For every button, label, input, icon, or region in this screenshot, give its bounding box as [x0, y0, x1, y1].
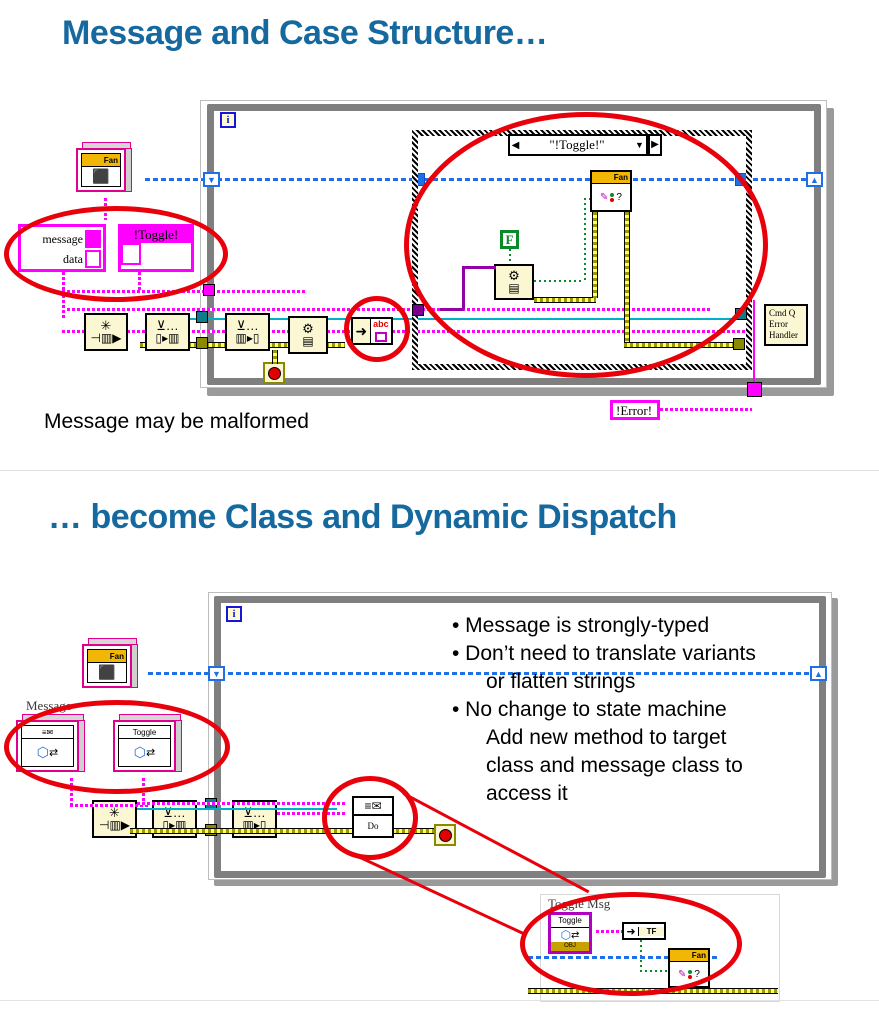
string-constant-toggle[interactable]: !Toggle! — [118, 224, 194, 272]
wire-yellow-stop[interactable] — [272, 350, 278, 364]
envelope-icon-message: ≡✉ — [22, 726, 73, 739]
bullet-3b: Add new method to target — [452, 724, 756, 752]
cube-icon-bottom: ⬛ — [88, 663, 126, 682]
divider-2 — [0, 1000, 879, 1001]
cluster-field-1[interactable] — [85, 230, 101, 248]
wire-yellow-bottom-1[interactable] — [130, 828, 360, 834]
do-method-label: Do — [354, 816, 392, 836]
divider-1 — [0, 470, 879, 471]
toggle-object-constant[interactable]: Toggle ⬡⇄ OBJ — [548, 912, 592, 954]
cube-arrows-icon-inset: ⬡⇄ — [551, 928, 589, 942]
shift-register-left-bottom[interactable]: ▼ — [208, 666, 225, 681]
wire-pink-inset[interactable] — [596, 930, 622, 933]
wire-purple-left[interactable] — [462, 266, 465, 310]
gear-sub-icon: ▤ — [508, 282, 519, 294]
wire-pink-fan-down-top[interactable] — [104, 198, 107, 220]
variant-square-icon — [371, 331, 391, 343]
tunnel-pink-top[interactable] — [203, 284, 215, 296]
fan-write-vi-inset[interactable]: Fan ✎ ? — [668, 948, 710, 988]
arrow-right-icon-inset: ➜ — [624, 925, 638, 938]
wire-pink-bus-bottom-3[interactable] — [277, 812, 347, 815]
do-method-vi[interactable]: ≡✉ Do — [352, 796, 394, 838]
bullet-2b: or flatten strings — [452, 668, 756, 696]
shift-register-left-top[interactable]: ▼ — [203, 172, 220, 187]
wire-yellow-case-d[interactable] — [624, 212, 630, 344]
toggle-msg-label: Toggle Msg — [548, 896, 610, 912]
variant-glyph-bottom: ▤ — [302, 335, 313, 347]
caption-malformed: Message may be malformed — [44, 410, 309, 434]
toggle-obj-label: Toggle — [551, 915, 589, 928]
fan-write-body-top: ✎ ? — [592, 184, 630, 210]
page-title-bottom: … become Class and Dynamic Dispatch — [48, 498, 677, 537]
stop-button-top[interactable] — [263, 362, 285, 384]
message-class-constant[interactable]: ≡✉ ⬡⇄ — [16, 714, 92, 778]
wire-pink-error[interactable] — [660, 408, 752, 411]
shift-register-right-top[interactable]: ▲ — [806, 172, 823, 187]
stop-button-bottom[interactable] — [434, 824, 456, 846]
toggle-label: Toggle — [119, 726, 170, 739]
obtain-queue-glyph-bottom-b: ⊣▥▶ — [99, 819, 130, 831]
cluster-field-2[interactable] — [85, 250, 101, 268]
fan-icon-header-top: Fan — [82, 154, 120, 167]
iteration-terminal-bottom[interactable]: i — [226, 606, 242, 622]
bullet-3d: access it — [452, 780, 756, 808]
enqueue-glyph-bottom: ▯▸▥ — [156, 332, 180, 344]
tunnel-olive-top[interactable] — [196, 337, 208, 349]
tunnel-teal-case[interactable] — [735, 308, 747, 320]
obj-badge: OBJ — [551, 942, 589, 951]
tunnel-magenta-error[interactable] — [747, 382, 762, 397]
tunnel-olive-case[interactable] — [733, 338, 745, 350]
page-title-top: Message and Case Structure… — [62, 14, 547, 53]
tunnel-purple-case[interactable] — [412, 304, 424, 316]
fan-inset-body: ✎ ? — [670, 962, 708, 986]
boolean-false-constant[interactable]: F — [500, 230, 519, 249]
wire-yellow-inset[interactable] — [528, 988, 778, 994]
wire-pink-left-drop[interactable] — [62, 290, 65, 318]
wire-purple-out[interactable] — [440, 308, 464, 311]
abc-label: abc — [371, 319, 391, 331]
wire-pink-string-down[interactable] — [138, 272, 141, 290]
string-constant-toggle-value: !Toggle! — [121, 227, 191, 243]
bullet-1: • Message is strongly-typed — [452, 612, 756, 640]
cube-arrows-icon-message: ⬡⇄ — [22, 739, 73, 766]
tunnel-teal-top[interactable] — [196, 311, 208, 323]
envelope-icon-do: ≡✉ — [354, 798, 392, 816]
fan-inset-header: Fan — [670, 950, 708, 962]
case-selector-value: "!Toggle!" — [521, 137, 633, 153]
flatten-to-string-vi[interactable]: ⚙ ▤ — [494, 264, 534, 300]
obtain-queue-vi-top[interactable]: ✳ ⊣▥▶ — [84, 313, 128, 351]
cmd-q-error-handler[interactable]: Cmd Q Error Handler — [764, 304, 808, 346]
cluster-label-message: message — [42, 232, 83, 247]
error-string-constant[interactable]: !Error! — [610, 400, 660, 420]
cluster-label-data: data — [63, 252, 83, 267]
wire-pink-msg-down[interactable] — [70, 778, 73, 804]
bullet-3c: class and message class to — [452, 752, 756, 780]
wire-pink-bus-1[interactable] — [62, 290, 307, 293]
dequeue-element-vi-top[interactable]: ⊻… ▥▸▯ — [225, 313, 270, 351]
wire-magenta-err-v[interactable] — [753, 300, 755, 388]
chevron-down-icon[interactable]: ▼ — [633, 140, 646, 150]
wire-yellow-case-b[interactable] — [534, 297, 596, 303]
wire-pink-cluster-down[interactable] — [62, 272, 65, 292]
err-line-1: Cmd Q — [769, 308, 803, 319]
err-line-2: Error — [769, 319, 803, 330]
fan-write-vi-top[interactable]: Fan ✎ ? — [590, 170, 632, 212]
arrow-right-icon: ➜ — [353, 319, 370, 343]
wire-purple-in[interactable] — [462, 266, 496, 269]
wire-yellow-case-e[interactable] — [624, 342, 736, 348]
obtain-queue-glyph-bottom: ⊣▥▶ — [90, 332, 121, 344]
case-structure-frame[interactable] — [412, 130, 752, 370]
toggle-class-constant[interactable]: Toggle ⬡⇄ — [113, 714, 189, 778]
fan-class-constant-bottom[interactable]: Fan ⬛ — [82, 638, 144, 694]
fan-class-constant-top[interactable]: Fan ⬛ — [76, 142, 138, 198]
bullet-3: • No change to state machine — [452, 696, 756, 724]
iteration-terminal-top[interactable]: i — [220, 112, 236, 128]
enqueue-element-vi-top[interactable]: ⊻… ▯▸▥ — [145, 313, 190, 351]
wire-green-inset-h[interactable] — [640, 970, 670, 972]
bullet-list: • Message is strongly-typed • Don’t need… — [452, 612, 756, 808]
variant-to-data-vi-top[interactable]: ⚙ ▤ — [288, 316, 328, 354]
wire-yellow-case-c[interactable] — [592, 212, 598, 298]
case-selector[interactable]: ◀ "!Toggle!" ▼ — [508, 134, 648, 156]
case-next-arrow-icon[interactable]: ▶ — [648, 134, 662, 156]
wire-cyan-bottom[interactable] — [137, 808, 337, 810]
wire-pink-toggle-down[interactable] — [142, 778, 145, 804]
case-prev-arrow-icon[interactable]: ◀ — [510, 140, 521, 151]
wire-green-h[interactable] — [534, 280, 584, 282]
fan-inset-glyph: ? — [694, 969, 700, 980]
fan-write-glyph-top: ? — [616, 192, 622, 203]
cluster-constant-message-data[interactable]: message data — [18, 224, 106, 272]
fan-icon-header-bottom: Fan — [88, 650, 126, 663]
err-line-3: Handler — [769, 330, 803, 341]
tf-label: TF — [638, 927, 664, 936]
wire-pink-bus-bottom-2[interactable] — [137, 802, 347, 805]
bullet-2: • Don’t need to translate variants — [452, 640, 756, 668]
tf-convert-node[interactable]: ➜ TF — [622, 922, 666, 940]
fan-write-header-top: Fan — [592, 172, 630, 184]
wire-green-v[interactable] — [584, 198, 586, 282]
cube-arrows-icon-toggle: ⬡⇄ — [119, 739, 170, 766]
dequeue-glyph-bottom: ▥▸▯ — [236, 332, 260, 344]
wire-green-bool[interactable] — [509, 249, 511, 265]
variant-abc-node[interactable]: ➜ abc — [351, 317, 393, 345]
shift-register-right-bottom[interactable]: ▲ — [810, 666, 827, 681]
cube-icon-top: ⬛ — [82, 167, 120, 186]
message-label: Message — [26, 698, 72, 714]
